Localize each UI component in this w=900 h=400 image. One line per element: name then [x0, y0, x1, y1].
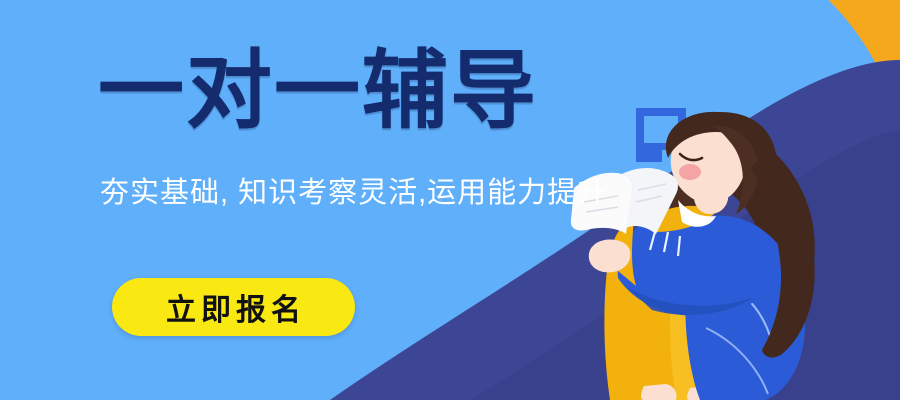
signup-now-button[interactable]: 立即报名	[112, 278, 355, 336]
banner-subtitle: 夯实基础, 知识考察灵活,运用能力提升	[100, 176, 607, 211]
banner-content: 一对一辅导 夯实基础, 知识考察灵活,运用能力提升 立即报名	[0, 0, 680, 400]
banner-title: 一对一辅导	[98, 48, 538, 134]
promo-banner: 一对一辅导 夯实基础, 知识考察灵活,运用能力提升 立即报名	[0, 0, 900, 400]
cheek-blush	[679, 164, 701, 180]
